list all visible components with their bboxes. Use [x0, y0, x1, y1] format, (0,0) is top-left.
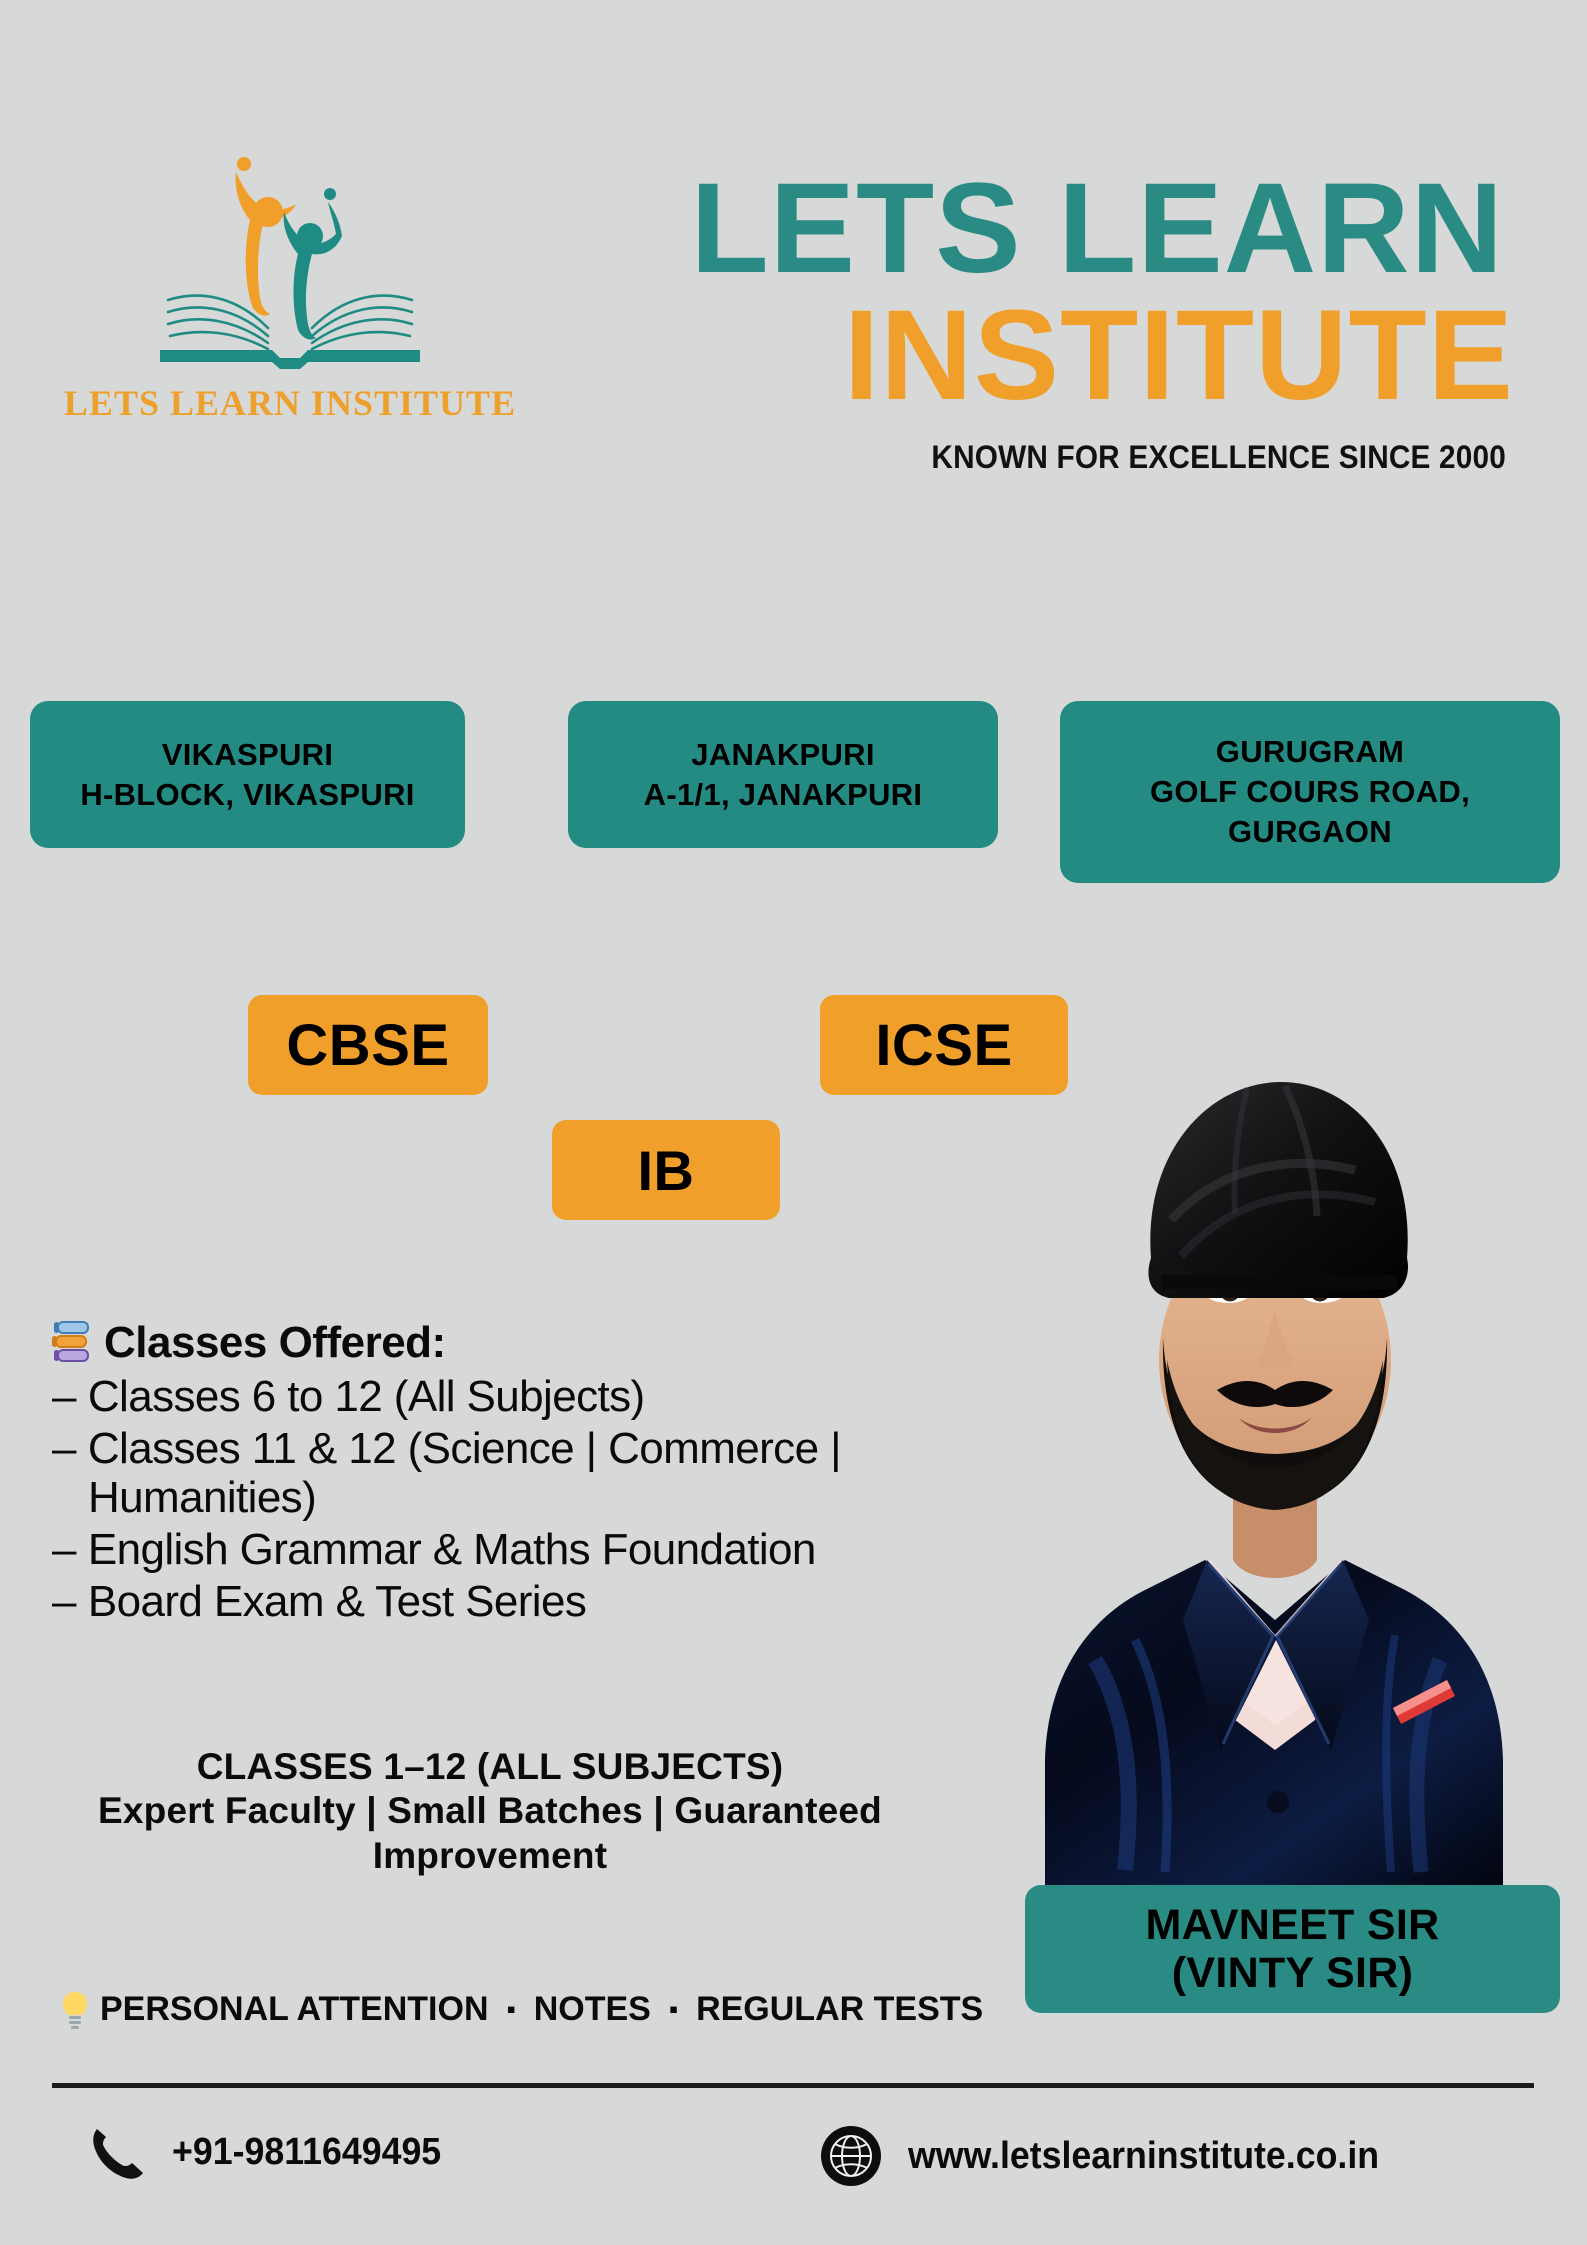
branch-card-vikaspuri[interactable]: VIKASPURI H-BLOCK, VIKASPURI	[30, 701, 465, 848]
perk-separator: ▪	[663, 1994, 684, 2025]
classes-offered-title: Classes Offered:	[104, 1318, 446, 1368]
lightbulb-icon	[62, 1991, 88, 2029]
list-item: –English Grammar & Maths Foundation	[52, 1525, 1012, 1575]
title-line-institute: INSTITUTE	[500, 291, 1514, 422]
perk-separator: ▪	[501, 1994, 522, 2025]
footer-phone[interactable]: +91-9811649495	[88, 2123, 458, 2181]
highlight-line-2: Expert Faculty | Small Batches | Guarant…	[60, 1789, 920, 1833]
list-item: –Classes 11 & 12 (Science | Commerce | H…	[52, 1424, 1012, 1523]
faculty-photo	[985, 1060, 1560, 1885]
perk-item-regular-tests: REGULAR TESTS	[696, 1990, 983, 2029]
list-item-text: English Grammar & Maths Foundation	[88, 1525, 816, 1574]
logo-mark-icon	[140, 150, 440, 380]
branch-card-gurugram[interactable]: GURUGRAM GOLF COURS ROAD, GURGAON	[1060, 701, 1560, 883]
classes-offered-section: Classes Offered: –Classes 6 to 12 (All S…	[52, 1318, 1012, 1629]
list-item: –Classes 6 to 12 (All Subjects)	[52, 1372, 1012, 1422]
list-dash: –	[52, 1372, 76, 1421]
list-dash: –	[52, 1525, 76, 1574]
list-dash: –	[52, 1424, 76, 1473]
perk-item-personal-attention: PERSONAL ATTENTION	[100, 1990, 489, 2029]
highlight-block: CLASSES 1–12 (ALL SUBJECTS) Expert Facul…	[60, 1745, 920, 1878]
website-url: www.letslearninstitute.co.in	[908, 2135, 1379, 2178]
perks-strip: PERSONAL ATTENTION ▪ NOTES ▪ REGULAR TES…	[62, 1990, 983, 2029]
footer-divider	[52, 2083, 1534, 2088]
faculty-name-badge: MAVNEET SIR (VINTY SIR)	[1025, 1885, 1560, 2013]
globe-icon	[820, 2125, 882, 2187]
branch-address: A-1/1, JANAKPURI	[644, 777, 923, 812]
faculty-portrait-image	[985, 1060, 1560, 1885]
list-dash: –	[52, 1577, 76, 1626]
list-item-text: Classes 11 & 12 (Science | Commerce | Hu…	[88, 1424, 841, 1523]
branch-name: GURUGRAM	[1216, 734, 1404, 769]
poster-title: LETS LEARN INSTITUTE KNOWN FOR EXCELLENC…	[500, 168, 1520, 476]
branch-name: VIKASPURI	[162, 737, 334, 772]
classes-offered-heading: Classes Offered:	[52, 1318, 1012, 1368]
list-item: –Board Exam & Test Series	[52, 1577, 1012, 1627]
faculty-name: MAVNEET SIR	[1146, 1901, 1440, 1949]
branch-address: GOLF COURS ROAD,	[1150, 774, 1470, 809]
poster-header: LETS LEARN INSTITUTE LETS LEARN INSTITUT…	[0, 0, 1587, 600]
title-line-lets-learn: LETS LEARN	[500, 168, 1504, 291]
board-badge-cbse[interactable]: CBSE	[248, 995, 488, 1095]
tagline: KNOWN FOR EXCELLENCE SINCE 2000	[570, 439, 1506, 476]
faculty-alias: (VINTY SIR)	[1172, 1949, 1413, 1997]
board-badge-ib[interactable]: IB	[552, 1120, 780, 1220]
branch-address: H-BLOCK, VIKASPURI	[80, 777, 414, 812]
highlight-line-3: Improvement	[60, 1834, 920, 1878]
footer-website[interactable]: www.letslearninstitute.co.in	[820, 2125, 1409, 2187]
branch-card-janakpuri[interactable]: JANAKPURI A-1/1, JANAKPURI	[568, 701, 998, 848]
list-item-text: Board Exam & Test Series	[88, 1577, 586, 1626]
logo-wordmark: LETS LEARN INSTITUTE	[64, 382, 516, 424]
list-item-text: Classes 6 to 12 (All Subjects)	[88, 1372, 645, 1421]
phone-number: +91-9811649495	[172, 2131, 441, 2174]
branch-address-city: GURGAON	[1228, 814, 1392, 849]
books-icon	[52, 1320, 90, 1366]
highlight-line-1: CLASSES 1–12 (ALL SUBJECTS)	[60, 1745, 920, 1789]
branch-list: VIKASPURI H-BLOCK, VIKASPURI JANAKPURI A…	[0, 690, 1587, 880]
perk-item-notes: NOTES	[534, 1990, 651, 2029]
classes-offered-list: –Classes 6 to 12 (All Subjects) –Classes…	[52, 1372, 1012, 1627]
institute-logo: LETS LEARN INSTITUTE	[80, 150, 500, 470]
branch-name: JANAKPURI	[691, 737, 875, 772]
poster-footer: +91-9811649495 www.letslearninstitute.co…	[0, 2105, 1587, 2245]
phone-icon	[88, 2123, 146, 2181]
